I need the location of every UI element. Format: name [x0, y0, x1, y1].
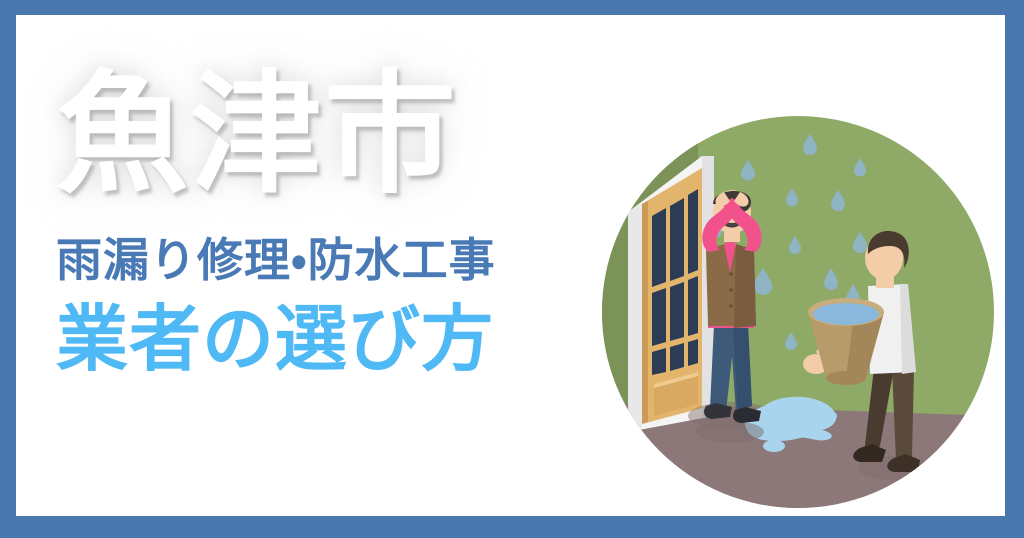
text-column: 魚津市 雨漏り修理・防水工事 業者の選び方: [56, 60, 616, 384]
banner: 魚津市 雨漏り修理・防水工事 業者の選び方: [0, 0, 1024, 538]
illustration-roof-leak: [602, 116, 994, 508]
page-title: 魚津市: [56, 60, 616, 210]
subtitle: 雨漏り修理・防水工事: [56, 232, 616, 288]
door-frame-left: [628, 204, 642, 432]
inner-card: 魚津市 雨漏り修理・防水工事 業者の選び方: [16, 15, 1005, 516]
door-panel-edge: [642, 201, 648, 424]
cardigan-shade: [734, 244, 756, 328]
bucket-base: [826, 371, 866, 385]
headline: 業者の選び方: [56, 296, 616, 384]
bucket-water: [813, 303, 879, 325]
